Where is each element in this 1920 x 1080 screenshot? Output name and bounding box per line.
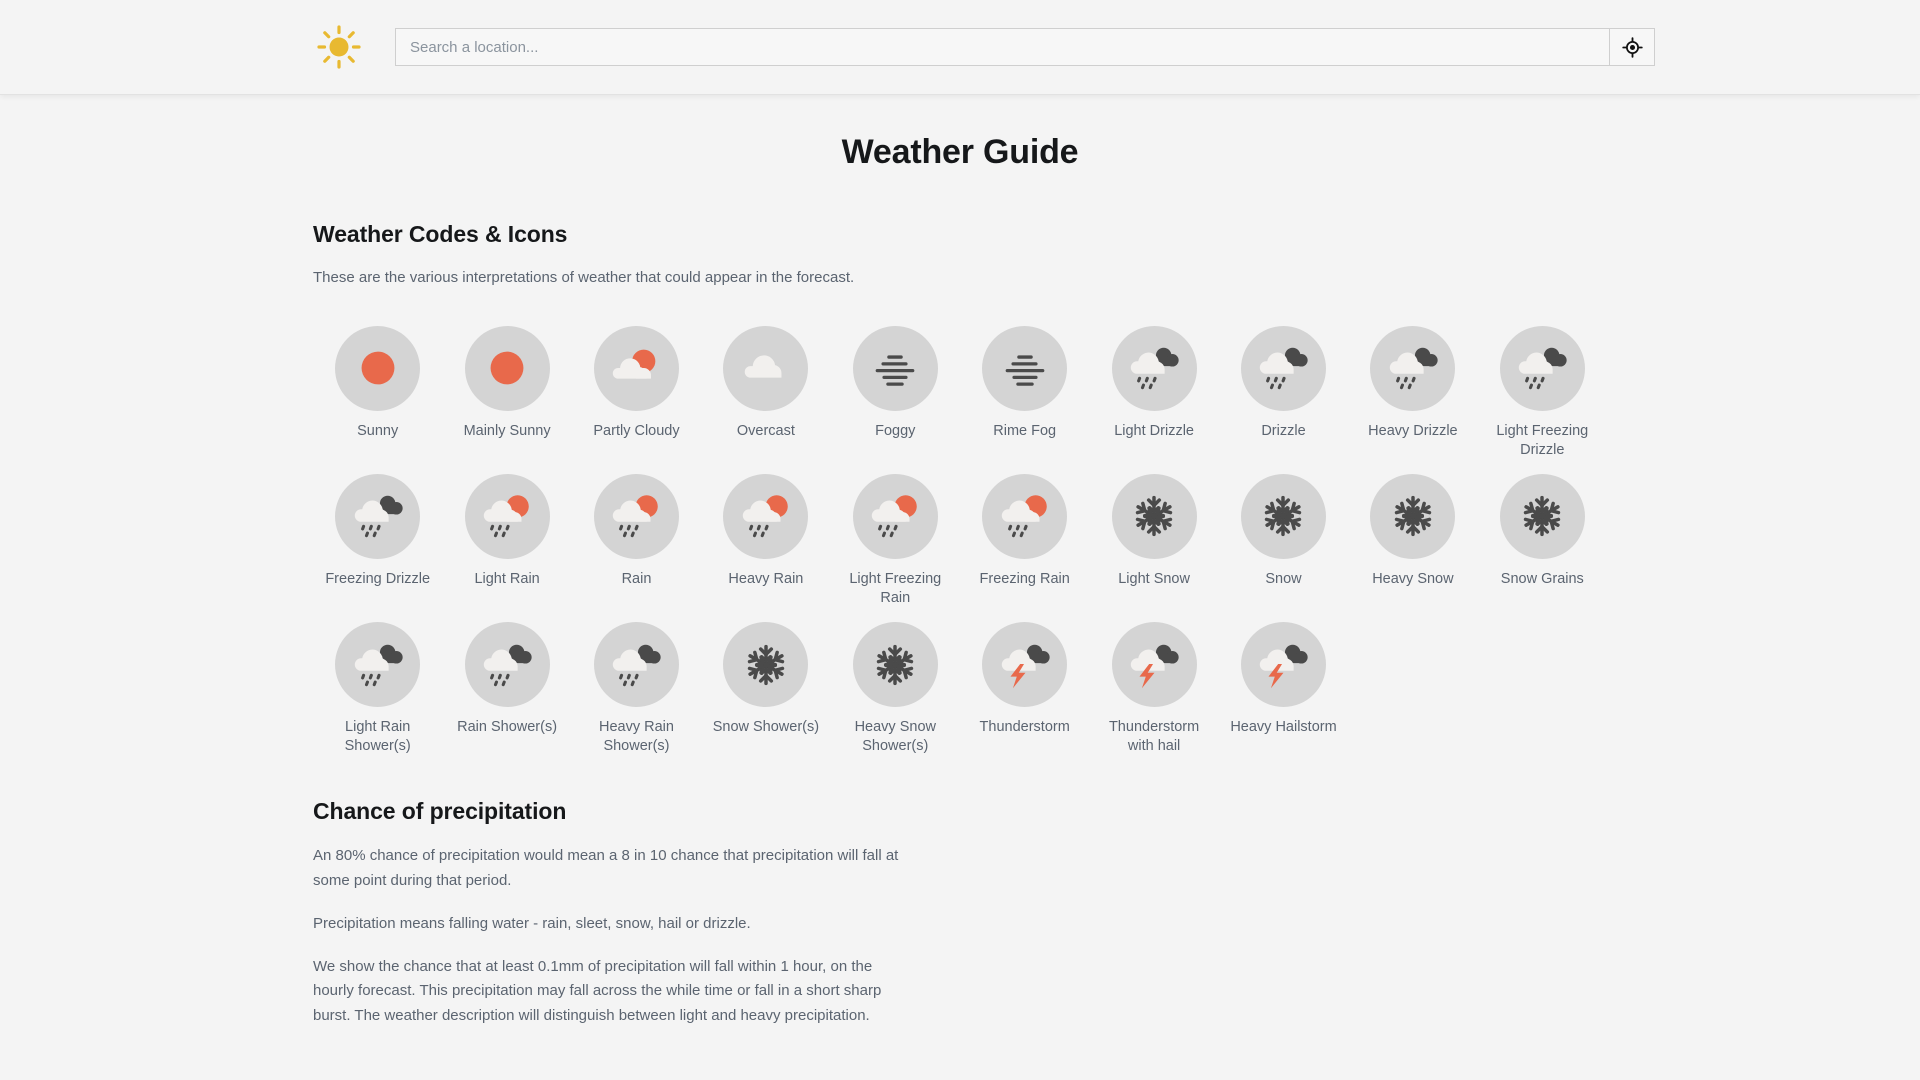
dark-cloud-rain-icon	[1241, 326, 1326, 411]
weather-code-item: Thunderstorm with hail	[1089, 608, 1218, 756]
geolocate-button[interactable]	[1609, 28, 1655, 66]
weather-codes-description: These are the various interpretations of…	[313, 267, 1607, 290]
snowflake-icon	[1112, 474, 1197, 559]
thunderstorm-icon	[1241, 622, 1326, 707]
weather-code-label: Light Freezing Drizzle	[1486, 422, 1598, 460]
weather-code-label: Heavy Hailstorm	[1230, 718, 1336, 737]
weather-code-label: Thunderstorm with hail	[1098, 718, 1210, 756]
weather-code-label: Light Freezing Rain	[839, 570, 951, 608]
dark-cloud-rain-icon	[594, 622, 679, 707]
weather-code-label: Snow Shower(s)	[713, 718, 819, 737]
weather-codes-heading: Weather Codes & Icons	[313, 221, 1607, 248]
weather-code-label: Partly Cloudy	[593, 422, 679, 441]
app-header	[0, 0, 1920, 95]
crosshair-location-icon	[1622, 37, 1643, 58]
weather-code-item: Freezing Drizzle	[313, 460, 442, 608]
weather-code-label: Heavy Rain	[728, 570, 803, 589]
thunderstorm-icon	[982, 622, 1067, 707]
snowflake-icon	[1370, 474, 1455, 559]
weather-code-item: Snow Grains	[1478, 460, 1607, 608]
dark-cloud-rain-icon	[1112, 326, 1197, 411]
snowflake-icon	[853, 622, 938, 707]
weather-code-label: Heavy Snow	[1372, 570, 1453, 589]
sun-icon	[335, 326, 420, 411]
weather-code-item: Light Snow	[1089, 460, 1218, 608]
page-title: Weather Guide	[313, 133, 1607, 172]
weather-code-item: Snow Shower(s)	[701, 608, 830, 756]
precipitation-heading: Chance of precipitation	[313, 798, 1607, 825]
fog-lines-icon	[853, 326, 938, 411]
weather-code-label: Snow Grains	[1501, 570, 1584, 589]
sun-cloud-rain-icon	[853, 474, 938, 559]
dark-cloud-rain-icon	[465, 622, 550, 707]
weather-code-label: Drizzle	[1261, 422, 1305, 441]
weather-code-label: Freezing Rain	[980, 570, 1070, 589]
sun-icon[interactable]	[313, 21, 365, 73]
weather-code-label: Heavy Snow Shower(s)	[839, 718, 951, 756]
weather-code-item: Heavy Snow	[1348, 460, 1477, 608]
weather-code-label: Sunny	[357, 422, 398, 441]
weather-code-item: Rain Shower(s)	[442, 608, 571, 756]
snowflake-icon	[1500, 474, 1585, 559]
weather-code-item: Heavy Hailstorm	[1219, 608, 1348, 756]
weather-code-item: Snow	[1219, 460, 1348, 608]
header-inner	[265, 21, 1655, 73]
weather-code-item: Thunderstorm	[960, 608, 1089, 756]
weather-code-item: Light Drizzle	[1089, 312, 1218, 460]
weather-code-label: Light Snow	[1118, 570, 1190, 589]
dark-cloud-rain-icon	[1370, 326, 1455, 411]
dark-cloud-rain-icon	[335, 622, 420, 707]
precipitation-paragraph-2: Precipitation means falling water - rain…	[313, 912, 905, 936]
weather-code-item: Foggy	[831, 312, 960, 460]
weather-code-item: Heavy Rain Shower(s)	[572, 608, 701, 756]
sun-cloud-rain-icon	[594, 474, 679, 559]
dark-cloud-rain-icon	[1500, 326, 1585, 411]
weather-code-label: Light Drizzle	[1114, 422, 1194, 441]
weather-code-label: Mainly Sunny	[464, 422, 551, 441]
weather-code-item: Freezing Rain	[960, 460, 1089, 608]
sun-cloud-rain-icon	[723, 474, 808, 559]
weather-code-label: Snow	[1265, 570, 1301, 589]
weather-code-item: Light Freezing Rain	[831, 460, 960, 608]
weather-code-label: Rain	[622, 570, 652, 589]
weather-code-label: Light Rain Shower(s)	[322, 718, 434, 756]
dark-cloud-rain-icon	[335, 474, 420, 559]
weather-code-item: Drizzle	[1219, 312, 1348, 460]
weather-code-label: Heavy Drizzle	[1368, 422, 1457, 441]
sun-icon	[465, 326, 550, 411]
weather-code-label: Rime Fog	[993, 422, 1056, 441]
weather-code-item: Partly Cloudy	[572, 312, 701, 460]
fog-lines-icon	[982, 326, 1067, 411]
weather-code-label: Freezing Drizzle	[325, 570, 430, 589]
weather-code-item: Heavy Drizzle	[1348, 312, 1477, 460]
sun-cloud-rain-icon	[982, 474, 1067, 559]
precipitation-paragraph-3: We show the chance that at least 0.1mm o…	[313, 955, 905, 1028]
weather-code-item: Rain	[572, 460, 701, 608]
weather-code-item: Light Rain Shower(s)	[313, 608, 442, 756]
weather-code-label: Overcast	[737, 422, 795, 441]
weather-code-item: Heavy Snow Shower(s)	[831, 608, 960, 756]
weather-code-item: Rime Fog	[960, 312, 1089, 460]
search-input[interactable]	[395, 28, 1609, 66]
weather-icon-grid: SunnyMainly Sunny Partly Cloudy Overcast…	[313, 312, 1607, 757]
weather-code-item: Light Rain	[442, 460, 571, 608]
snowflake-icon	[1241, 474, 1326, 559]
weather-code-item: Sunny	[313, 312, 442, 460]
weather-code-label: Light Rain	[474, 570, 539, 589]
weather-code-item: Light Freezing Drizzle	[1478, 312, 1607, 460]
weather-code-label: Thunderstorm	[980, 718, 1070, 737]
weather-code-item: Mainly Sunny	[442, 312, 571, 460]
weather-code-item: Overcast	[701, 312, 830, 460]
weather-code-label: Rain Shower(s)	[457, 718, 557, 737]
precipitation-paragraph-1: An 80% chance of precipitation would mea…	[313, 844, 905, 893]
sun-cloud-rain-icon	[465, 474, 550, 559]
page-content: Weather Guide Weather Codes & Icons Thes…	[265, 133, 1655, 1028]
weather-code-label: Heavy Rain Shower(s)	[580, 718, 692, 756]
weather-code-item: Heavy Rain	[701, 460, 830, 608]
location-search	[395, 28, 1655, 66]
cloud-icon	[723, 326, 808, 411]
sun-behind-cloud-icon	[594, 326, 679, 411]
weather-code-label: Foggy	[875, 422, 915, 441]
thunderstorm-icon	[1112, 622, 1197, 707]
snowflake-icon	[723, 622, 808, 707]
